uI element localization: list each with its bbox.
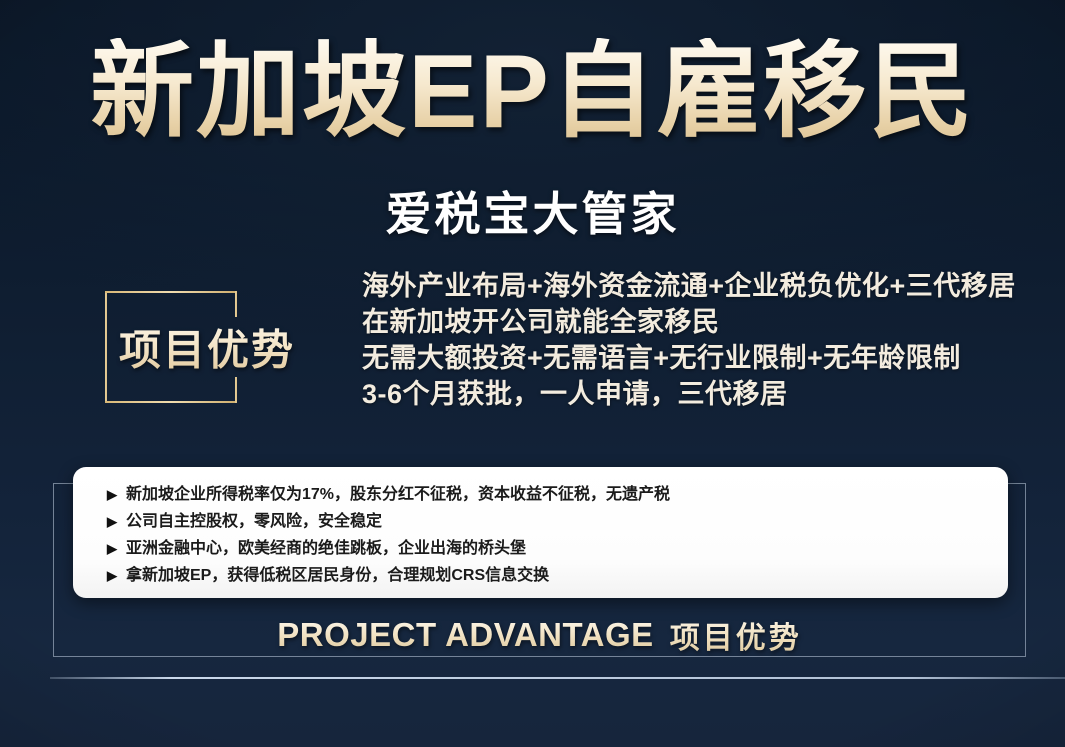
footer-english-label: PROJECT ADVANTAGE	[277, 616, 653, 654]
list-item: ▶ 亚洲金融中心，欧美经商的绝佳跳板，企业出海的桥头堡	[107, 535, 1008, 562]
list-item-label: 亚洲金融中心，欧美经商的绝佳跳板，企业出海的桥头堡	[126, 535, 526, 562]
bottom-accent-rule	[50, 677, 1065, 679]
page-title: 新加坡EP自雇移民	[0, 38, 1065, 146]
triangle-bullet-icon: ▶	[107, 508, 117, 535]
bracket-bottom-edge	[105, 401, 237, 403]
feature-line: 在新加坡开公司就能全家移民	[362, 304, 1022, 340]
advantages-card: ▶ 新加坡企业所得税率仅为17%，股东分红不征税，资本收益不征税，无遗产税 ▶ …	[73, 467, 1008, 598]
bracket-top-edge	[105, 291, 237, 293]
list-item-label: 新加坡企业所得税率仅为17%，股东分红不征税，资本收益不征税，无遗产税	[126, 481, 670, 508]
project-advantage-badge: 项目优势	[105, 291, 237, 403]
triangle-bullet-icon: ▶	[107, 535, 117, 562]
triangle-bullet-icon: ▶	[107, 481, 117, 508]
triangle-bullet-icon: ▶	[107, 562, 117, 589]
list-item: ▶ 拿新加坡EP，获得低税区居民身份，合理规划CRS信息交换	[107, 562, 1008, 589]
bracket-left-edge	[105, 291, 107, 403]
list-item-label: 公司自主控股权，零风险，安全稳定	[126, 508, 382, 535]
list-item: ▶ 新加坡企业所得税率仅为17%，股东分红不征税，资本收益不征税，无遗产税	[107, 481, 1008, 508]
bracket-right-bottom-stub	[235, 377, 237, 403]
feature-line: 3-6个月获批，一人申请，三代移居	[362, 376, 1022, 412]
list-item: ▶ 公司自主控股权，零风险，安全稳定	[107, 508, 1008, 535]
footer-chinese-label: 项目优势	[670, 613, 802, 657]
bracket-right-top-stub	[235, 291, 237, 317]
feature-line: 无需大额投资+无需语言+无行业限制+无年龄限制	[362, 340, 1022, 376]
badge-label: 项目优势	[119, 317, 295, 378]
list-item-label: 拿新加坡EP，获得低税区居民身份，合理规划CRS信息交换	[126, 562, 549, 589]
feature-list: 海外产业布局+海外资金流通+企业税负优化+三代移居 在新加坡开公司就能全家移民 …	[362, 268, 1022, 412]
poster-canvas: 新加坡EP自雇移民 爱税宝大管家 项目优势 海外产业布局+海外资金流通+企业税负…	[0, 0, 1065, 747]
footer-caption: PROJECT ADVANTAGE 项目优势	[53, 612, 1026, 657]
page-subtitle: 爱税宝大管家	[0, 178, 1065, 244]
feature-line: 海外产业布局+海外资金流通+企业税负优化+三代移居	[362, 268, 1022, 304]
